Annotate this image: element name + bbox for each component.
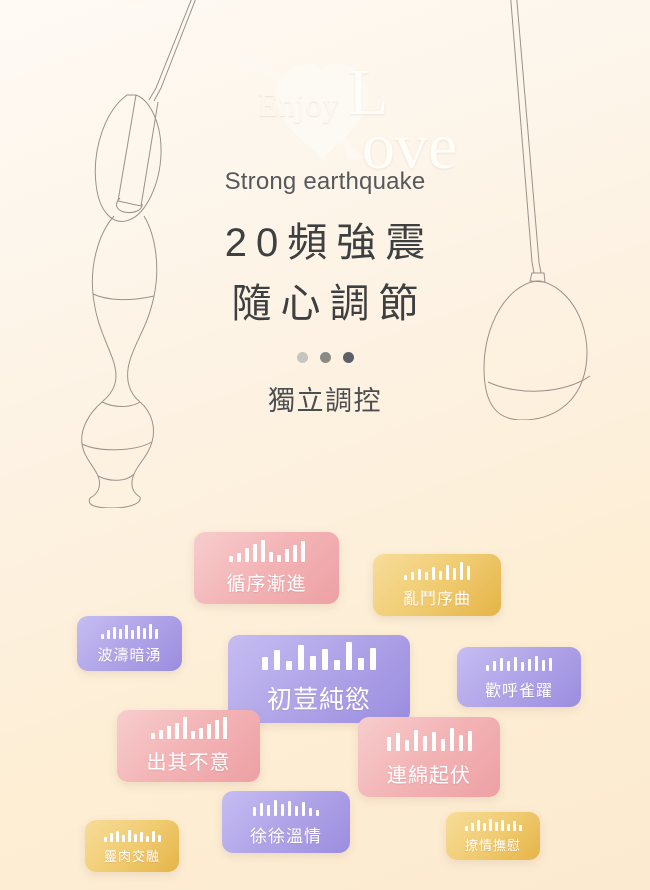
vibration-mode-badge[interactable]: 初荳純慾 [228,635,410,723]
waveform-bar [514,657,517,671]
waveform-bar [155,629,158,639]
vibration-mode-badge[interactable]: 亂鬥序曲 [373,554,501,616]
waveform-bar [495,822,498,831]
vibration-mode-badge[interactable]: 徐徐溫情 [222,791,350,853]
waveform-bar [125,625,128,639]
waveform-bar [274,650,280,670]
waveform-bar [334,660,340,670]
waveform-bar [507,824,510,831]
waveform-bar [158,835,161,842]
waveform-bar [293,545,297,562]
waveform-bar [405,740,409,751]
waveform-bar [146,836,149,842]
waveform-bar [215,720,219,739]
waveform-bar [439,571,442,580]
vibration-mode-badge[interactable]: 波濤暗湧 [77,616,182,671]
vibration-mode-label: 徐徐溫情 [250,822,322,847]
waveform-bar [277,555,281,562]
waveform-icon [465,818,522,831]
waveform-bar [453,568,456,580]
waveform-bar [262,657,268,670]
waveform-bar [281,804,284,816]
waveform-bar [288,801,291,816]
waveform-bar [122,835,125,842]
vibration-mode-badge[interactable]: 出其不意 [117,710,260,782]
waveform-bar [253,807,256,816]
waveform-bar [152,831,155,842]
waveform-bar [513,821,516,831]
waveform-bar [528,659,531,671]
waveform-bar [104,837,107,842]
vibration-mode-badge[interactable]: 靈肉交融 [85,820,179,872]
waveform-bar [521,662,524,671]
waveform-bar [175,723,179,739]
vibration-mode-badge[interactable]: 歡呼雀躍 [457,647,581,707]
waveform-bar [137,626,140,639]
waveform-bar [253,544,257,562]
waveform-bar [116,831,119,842]
vibration-mode-label: 循序漸進 [226,569,306,596]
waveform-bar [207,724,211,739]
vibration-mode-badge-group: 循序漸進亂鬥序曲波濤暗湧初荳純慾歡呼雀躍出其不意連綿起伏徐徐溫情靈肉交融撩情撫慰 [0,0,650,890]
waveform-bar [387,737,391,751]
vibration-mode-label: 連綿起伏 [387,759,471,788]
waveform-icon [404,562,470,580]
waveform-bar [450,728,454,751]
waveform-bar [286,661,292,670]
waveform-bar [483,823,486,831]
waveform-bar [519,825,522,831]
waveform-bar [418,569,421,580]
waveform-bar [310,656,316,670]
waveform-icon [253,797,319,816]
waveform-bar [489,819,492,831]
vibration-mode-label: 撩情撫慰 [465,835,521,854]
waveform-bar [465,826,468,831]
waveform-bar [119,629,122,639]
waveform-bar [301,541,305,562]
waveform-bar [107,630,110,639]
vibration-mode-label: 波濤暗湧 [97,644,161,665]
waveform-bar [237,553,241,562]
waveform-bar [151,733,155,739]
waveform-bar [167,726,171,739]
waveform-bar [260,803,263,816]
waveform-bar [358,658,364,670]
waveform-bar [467,566,470,580]
waveform-bar [261,540,265,562]
waveform-bar [140,832,143,842]
waveform-bar [110,833,113,842]
waveform-bar [143,628,146,639]
waveform-bar [199,728,203,739]
waveform-bar [285,549,289,562]
waveform-bar [316,810,319,816]
waveform-bar [322,649,328,670]
waveform-bar [396,733,400,751]
waveform-bar [535,656,538,671]
waveform-bar [159,730,163,739]
waveform-bar [101,634,104,639]
waveform-icon [101,623,158,639]
product-feature-page: Enjoy L ove Strong earthquake 20頻強震 隨心調節… [0,0,650,890]
waveform-bar [229,556,233,562]
waveform-icon [387,727,472,751]
waveform-bar [471,823,474,831]
vibration-mode-label: 靈肉交融 [104,846,160,865]
waveform-bar [432,732,436,751]
waveform-bar [274,800,277,816]
waveform-bar [493,661,496,671]
waveform-bar [346,642,352,670]
waveform-bar [370,648,376,670]
waveform-bar [460,562,463,580]
waveform-bar [245,548,249,562]
waveform-bar [507,661,510,671]
vibration-mode-badge[interactable]: 循序漸進 [194,532,339,604]
waveform-bar [411,572,414,580]
waveform-bar [446,565,449,580]
waveform-icon [486,653,552,671]
waveform-icon [104,828,161,842]
waveform-bar [134,834,137,842]
waveform-bar [131,630,134,639]
waveform-bar [128,830,131,842]
waveform-bar [404,575,407,580]
waveform-bar [486,665,489,671]
waveform-icon [229,540,305,562]
waveform-bar [269,552,273,562]
vibration-mode-label: 初荳純慾 [267,680,371,716]
waveform-bar [501,820,504,831]
waveform-bar [223,717,227,739]
waveform-bar [267,805,270,816]
waveform-icon [151,717,227,739]
waveform-bar [441,739,445,751]
waveform-bar [549,658,552,671]
waveform-bar [459,735,463,751]
waveform-bar [414,730,418,751]
waveform-bar [542,660,545,671]
waveform-bar [302,802,305,816]
waveform-bar [149,624,152,639]
waveform-bar [295,806,298,816]
waveform-bar [477,820,480,831]
waveform-bar [183,717,187,739]
waveform-bar [113,627,116,639]
waveform-bar [468,731,472,751]
vibration-mode-label: 歡呼雀躍 [485,677,553,701]
waveform-bar [309,808,312,816]
waveform-icon [262,642,376,670]
waveform-bar [425,572,428,580]
vibration-mode-label: 出其不意 [147,746,231,775]
waveform-bar [298,645,304,670]
vibration-mode-label: 亂鬥序曲 [403,585,471,609]
waveform-bar [432,567,435,580]
waveform-bar [423,736,427,751]
waveform-bar [191,731,195,739]
vibration-mode-badge[interactable]: 撩情撫慰 [446,812,540,860]
vibration-mode-badge[interactable]: 連綿起伏 [358,717,500,797]
waveform-bar [500,658,503,671]
